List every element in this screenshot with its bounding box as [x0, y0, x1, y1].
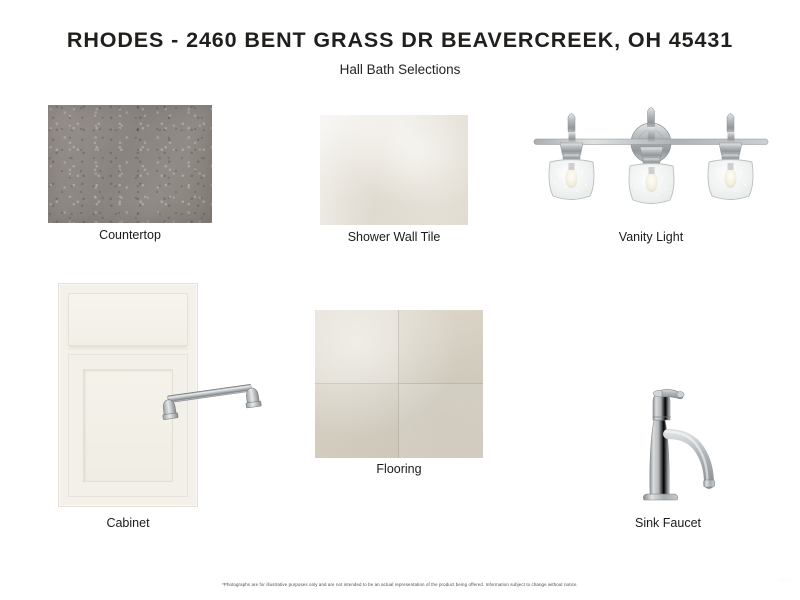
cabinet-bar-pull-icon	[158, 372, 262, 424]
selection-label-cabinet: Cabinet	[58, 516, 198, 530]
sheet-header: RHODES - 2460 BENT GRASS DR BEAVERCREEK,…	[0, 0, 800, 77]
page-title: RHODES - 2460 BENT GRASS DR BEAVERCREEK,…	[0, 0, 800, 53]
floor-tile-quadrant	[399, 384, 483, 458]
floor-tile-swatch-icon	[315, 310, 483, 458]
granite-swatch-icon	[48, 105, 212, 223]
selection-vanity-light: Vanity Light	[522, 103, 780, 225]
tile-swatch-icon	[320, 115, 468, 225]
selection-countertop: Countertop	[48, 105, 212, 223]
faucet-icon	[618, 368, 728, 513]
selection-label-flooring: Flooring	[315, 462, 483, 476]
selection-flooring: Flooring	[315, 310, 483, 458]
selection-label-countertop: Countertop	[48, 228, 212, 242]
floor-tile-quadrant	[315, 310, 399, 384]
selection-label-sink-faucet: Sink Faucet	[613, 516, 723, 530]
cabinet-drawer-front	[68, 293, 188, 346]
footer-disclaimer: *Photographs are for illustrative purpos…	[0, 582, 800, 587]
selection-label-shower-wall-tile: Shower Wall Tile	[320, 230, 468, 244]
selection-shower-wall-tile: Shower Wall Tile	[320, 115, 468, 225]
selection-sink-faucet: Sink Faucet	[618, 368, 728, 513]
cabinet-rail	[68, 348, 188, 351]
selection-label-vanity-light: Vanity Light	[522, 230, 780, 244]
vanity-light-icon	[522, 103, 780, 225]
page-subtitle: Hall Bath Selections	[0, 53, 800, 77]
watermark: MLS	[780, 578, 794, 585]
